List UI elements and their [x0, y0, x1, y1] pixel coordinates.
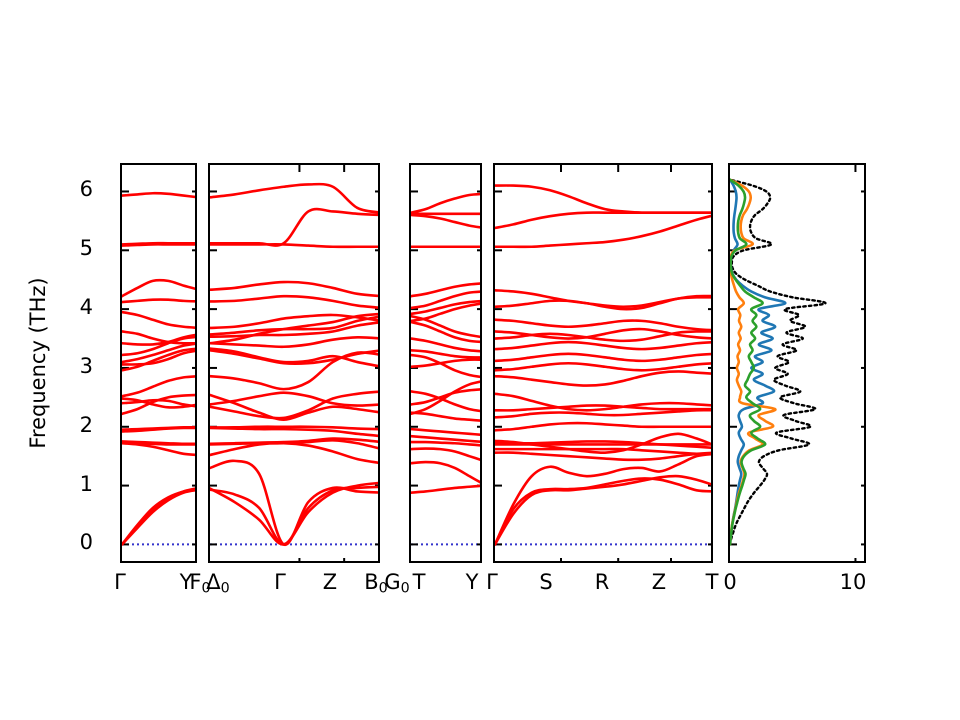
phonon-band: [495, 363, 713, 370]
phonon-band: [122, 376, 197, 396]
phonon-figure: Frequency (THz) 0123456 ΓYF0Δ0ΓZB0G0TYΓS…: [0, 0, 960, 720]
phonon-band: [210, 282, 380, 296]
x-tick-label: Γ: [114, 570, 126, 594]
y-tick-label: 3: [60, 354, 100, 378]
phonon-band: [411, 429, 482, 435]
x-tick-label: S: [539, 570, 552, 594]
phonon-band: [411, 283, 482, 296]
phonon-band: [122, 312, 197, 328]
phonon-band: [495, 354, 713, 361]
x-tick-label: 10: [840, 570, 867, 594]
x-tick-label: 0: [723, 570, 736, 594]
y-tick-label: 0: [60, 530, 100, 554]
phonon-band: [210, 352, 380, 389]
phonon-band: [495, 478, 713, 544]
phonon-band: [411, 413, 482, 421]
phonon-band: [210, 487, 380, 545]
phonon-band: [411, 449, 482, 461]
phonon-band: [122, 427, 197, 429]
phonon-band: [495, 320, 713, 331]
phonon-band: [495, 423, 713, 430]
x-tick-label: T: [706, 570, 719, 594]
phonon-band: [122, 243, 197, 244]
phonon-band: [495, 394, 713, 410]
phonon-band: [495, 329, 713, 338]
phonon-band: [210, 244, 380, 247]
y-tick-label: 6: [60, 177, 100, 201]
phonon-band: [210, 296, 380, 308]
phonon-band: [210, 184, 380, 213]
phonon-band: [122, 280, 197, 296]
x-tick-label: Γ: [274, 570, 286, 594]
y-tick-label: 2: [60, 413, 100, 437]
phonon-band: [411, 442, 482, 446]
phonon-band: [495, 186, 713, 213]
dos-curve-total: [730, 180, 825, 545]
dos-panel: [728, 163, 866, 563]
y-tick-label: 1: [60, 472, 100, 496]
phonon-band: [122, 489, 197, 545]
band-panel-1: [120, 163, 197, 563]
y-tick-label: 5: [60, 236, 100, 260]
phonon-band: [122, 300, 197, 303]
phonon-band: [495, 342, 713, 349]
phonon-band: [122, 490, 197, 545]
x-tick-label: Z: [323, 570, 337, 594]
x-tick-label: R: [595, 570, 610, 594]
phonon-band: [122, 488, 197, 544]
band-panel-3: [409, 163, 482, 563]
band-panel-2: [208, 163, 380, 563]
x-tick-label: Y: [466, 570, 479, 594]
y-tick-label: 4: [60, 295, 100, 319]
phonon-band: [411, 194, 482, 213]
band-panel-4: [493, 163, 713, 563]
x-tick-label: G0: [384, 570, 409, 597]
x-tick-label: Z: [652, 570, 666, 594]
phonon-band: [495, 371, 713, 385]
phonon-band: [411, 462, 482, 484]
x-tick-label: T: [413, 570, 426, 594]
x-tick-label: Γ: [486, 570, 498, 594]
phonon-band: [411, 215, 482, 228]
phonon-band: [122, 193, 197, 197]
x-tick-label: Δ0: [206, 570, 229, 597]
phonon-band: [495, 410, 713, 417]
phonon-band: [411, 486, 482, 493]
phonon-band: [210, 209, 380, 246]
y-axis-label: Frequency (THz): [26, 277, 50, 448]
